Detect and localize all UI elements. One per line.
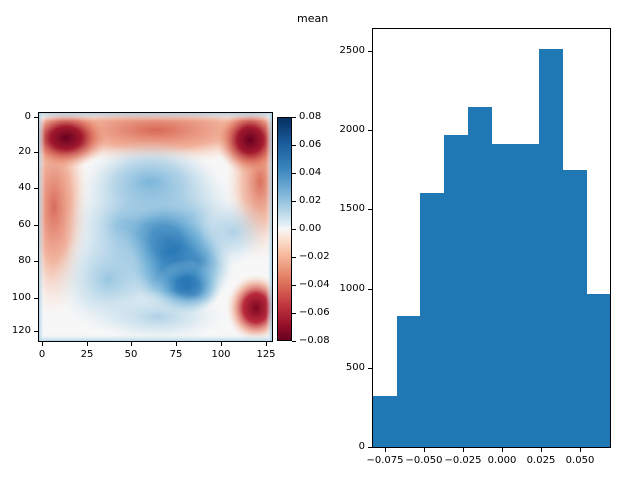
histogram-xtick-label--0.050: −0.050	[405, 456, 442, 466]
heatmap-xtick-label-100: 100	[211, 350, 230, 360]
histogram-ytick-mark	[368, 447, 372, 448]
colorbar-tick-mark	[292, 201, 296, 202]
colorbar-tick-label-0.04: 0.04	[299, 168, 321, 178]
colorbar-tick-mark	[292, 285, 296, 286]
heatmap-ytick-mark	[34, 152, 38, 153]
histogram-bar	[468, 107, 492, 447]
histogram-bar	[563, 170, 587, 447]
heatmap-ytick-mark	[34, 261, 38, 262]
colorbar-tick-mark	[292, 145, 296, 146]
heatmap-ytick-mark	[34, 298, 38, 299]
histogram-xtick-mark	[541, 448, 542, 452]
colorbar-tick-label--0.08: −0.08	[299, 336, 330, 346]
colorbar-tick-mark	[292, 313, 296, 314]
heatmap-xtick-label-125: 125	[256, 350, 275, 360]
heatmap-xtick-label-50: 50	[125, 350, 138, 360]
heatmap-spine-top	[38, 112, 273, 113]
heatmap-ytick-label-0: 0	[8, 112, 31, 122]
colorbar-tick-mark	[292, 173, 296, 174]
heatmap-ytick-mark	[34, 188, 38, 189]
heatmap-xtick-mark	[266, 342, 267, 346]
colorbar-tick-mark	[292, 229, 296, 230]
heatmap-spine-left	[38, 112, 39, 342]
colorbar-title: mean	[297, 12, 328, 25]
histogram-bar	[397, 316, 421, 447]
histogram-xtick-label--0.075: −0.075	[366, 456, 403, 466]
histogram-bar	[539, 49, 563, 447]
heatmap-xtick-mark	[221, 342, 222, 346]
histogram-xtick-label-0.000: 0.000	[488, 456, 517, 466]
heatmap-ytick-label-100: 100	[2, 293, 31, 303]
heatmap-ytick-mark	[34, 117, 38, 118]
histogram-frame	[372, 28, 611, 448]
heatmap-spine-right	[272, 112, 273, 342]
heatmap-ytick-label-80: 80	[8, 256, 31, 266]
heatmap-xtick-mark	[42, 342, 43, 346]
histogram-bar	[492, 144, 516, 447]
colorbar-tick-mark	[292, 117, 296, 118]
histogram-ytick-mark	[368, 368, 372, 369]
heatmap-xtick-mark	[131, 342, 132, 346]
histogram-ytick-label-0: 0	[334, 442, 365, 452]
histogram-ytick-mark	[368, 289, 372, 290]
histogram-axes	[372, 28, 611, 448]
histogram-bars	[373, 29, 610, 447]
heatmap-axes	[38, 112, 273, 342]
figure-canvas: 0 20 40 60 80 100 120 0 25 50 75 100 125…	[0, 0, 627, 478]
histogram-ytick-mark	[368, 130, 372, 131]
histogram-ytick-label-1000: 1000	[334, 284, 365, 294]
colorbar-tick-mark	[292, 257, 296, 258]
histogram-xtick-label-0.025: 0.025	[527, 456, 556, 466]
colorbar	[277, 117, 292, 341]
heatmap-xtick-label-0: 0	[39, 350, 45, 360]
histogram-xtick-mark	[385, 448, 386, 452]
histogram-xtick-mark	[580, 448, 581, 452]
histogram-bar	[515, 144, 539, 447]
histogram-xtick-label--0.025: −0.025	[444, 456, 481, 466]
heatmap-ytick-mark	[34, 331, 38, 332]
colorbar-tick-label--0.04: −0.04	[299, 280, 330, 290]
histogram-xtick-label-0.050: 0.050	[566, 456, 595, 466]
histogram-ytick-mark	[368, 51, 372, 52]
heatmap-ytick-label-120: 120	[2, 326, 31, 336]
colorbar-tick-label-0.08: 0.08	[299, 112, 321, 122]
colorbar-tick-mark	[292, 341, 296, 342]
colorbar-tick-label--0.06: −0.06	[299, 308, 330, 318]
histogram-bar	[420, 193, 444, 447]
histogram-bar	[587, 294, 610, 447]
heatmap-image	[38, 112, 273, 342]
heatmap-ytick-label-20: 20	[8, 147, 31, 157]
histogram-bar	[444, 135, 468, 447]
histogram-ytick-label-2500: 2500	[334, 46, 365, 56]
colorbar-tick-label-0.00: 0.00	[299, 224, 321, 234]
colorbar-tick-label-0.06: 0.06	[299, 140, 321, 150]
histogram-ytick-label-500: 500	[334, 363, 365, 373]
colorbar-tick-label-0.02: 0.02	[299, 196, 321, 206]
histogram-ytick-label-1500: 1500	[334, 204, 365, 214]
heatmap-spine-bottom	[38, 341, 273, 342]
heatmap-xtick-label-75: 75	[170, 350, 183, 360]
heatmap-ytick-mark	[34, 225, 38, 226]
histogram-xtick-mark	[424, 448, 425, 452]
heatmap-xtick-label-25: 25	[81, 350, 94, 360]
histogram-xtick-mark	[463, 448, 464, 452]
histogram-ytick-label-2000: 2000	[334, 125, 365, 135]
heatmap-ytick-label-60: 60	[8, 220, 31, 230]
heatmap-xtick-mark	[176, 342, 177, 346]
histogram-ytick-mark	[368, 209, 372, 210]
colorbar-tick-label--0.02: −0.02	[299, 252, 330, 262]
colorbar-gradient	[277, 117, 292, 341]
heatmap-ytick-label-40: 40	[8, 183, 31, 193]
heatmap-xtick-mark	[87, 342, 88, 346]
histogram-bar	[373, 396, 397, 447]
histogram-xtick-mark	[502, 448, 503, 452]
